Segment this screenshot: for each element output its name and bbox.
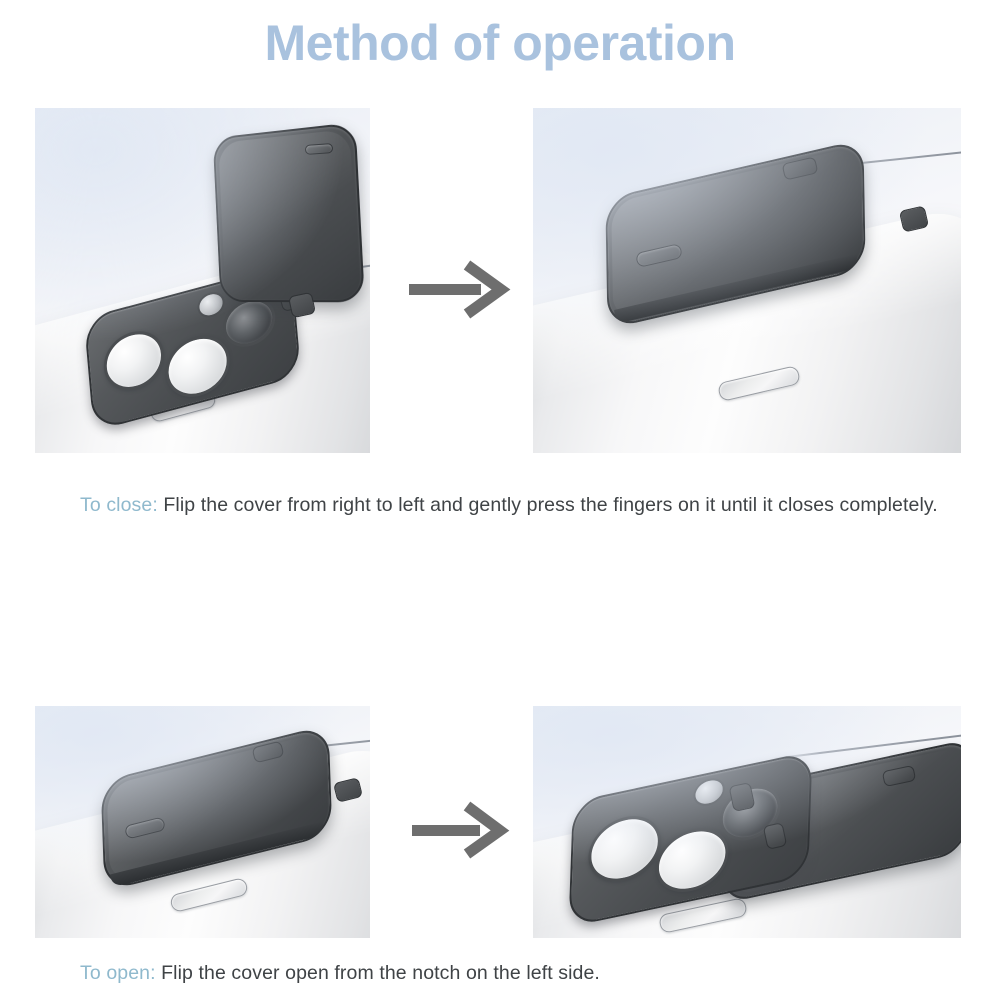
illustration-cover-open-upright [35,108,370,453]
caption-open-lead: To open: [80,962,156,984]
camera-flash [196,289,225,321]
caption-close-lead: To close: [80,494,158,516]
caption-open-body: Flip the cover open from the notch on th… [161,962,600,984]
caption-close-body: Flip the cover from right to left and ge… [163,494,937,516]
render-scene [533,706,961,938]
camera-lens-bottom-right [655,822,730,899]
camera-flash [693,775,725,808]
arrow-open-step [408,797,513,865]
render-scene [35,706,370,938]
render-scene [533,108,961,453]
camera-lens-top-left [101,324,166,397]
cover-lid-open [213,122,365,302]
arrow-close-step [405,255,515,325]
page-title: Method of operation [0,14,1000,72]
caption-to-close: To close: Flip the cover from right to l… [80,490,960,520]
render-scene [35,108,370,453]
right-arrow-icon [408,797,513,865]
camera-lens-top-left [587,809,662,888]
cover-lid-face [218,129,358,296]
cover-notch-top [305,143,334,155]
product-instruction-page: Method of operation [0,0,1000,1000]
right-arrow-icon [405,255,515,325]
camera-lens-bottom-right [163,328,232,404]
illustration-cover-closed-bottom [35,706,370,938]
illustration-cover-closed-top [533,108,961,453]
caption-to-open: To open: Flip the cover open from the no… [80,958,960,988]
illustration-cover-open-flat [533,706,961,938]
